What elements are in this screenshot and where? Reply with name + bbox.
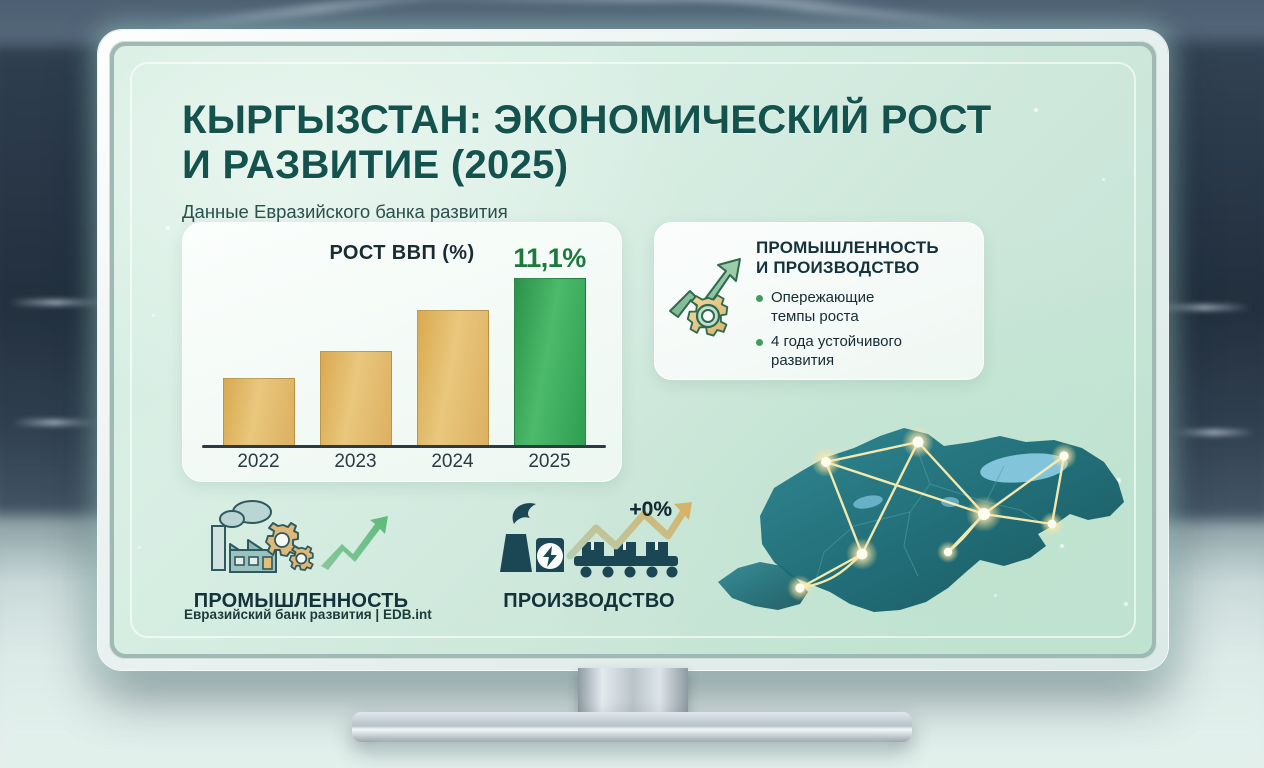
bar-slot [223,278,295,445]
industry-production-card: ПРОМЫШЛЕННОСТЬ И ПРОИЗВОДСТВО Опережающи… [654,222,984,380]
chart-x-tick-labels: 2022 2023 2024 2025 [210,451,598,473]
server-rack [0,45,110,515]
tv-stand-base [352,712,912,742]
list-item: Опережающие темпы роста [756,288,968,326]
chart-plot-area: 11,1% [210,278,598,445]
bar-slot [417,278,489,445]
factory-gears-icon [190,494,412,586]
gdp-growth-chart-card: РОСТ ВВП (%) [182,222,622,482]
list-item-label: Опережающие темпы роста [771,288,874,326]
slide-header: КЫРГЫЗСТАН: ЭКОНОМИЧЕСКИЙ РОСТ И РАЗВИТИ… [182,98,992,223]
rack-led [8,300,104,305]
bullet-dot-icon [756,295,763,302]
table-row [417,310,489,445]
stat-visual [190,494,412,586]
card-title: ПРОМЫШЛЕННОСТЬ И ПРОИЗВОДСТВО [756,238,968,279]
sparkle [138,546,141,549]
slide-screen: КЫРГЫЗСТАН: ЭКОНОМИЧЕСКИЙ РОСТ И РАЗВИТИ… [114,46,1152,654]
list-item-label: 4 года устойчивого развития [771,332,902,370]
rack-led [1158,305,1250,310]
industry-production-body: ПРОМЫШЛЕННОСТЬ И ПРОИЗВОДСТВО Опережающи… [756,236,968,366]
x-tick: 2022 [223,451,295,473]
stat-industry: +0% ПРОМЫШЛЕННОСТЬ [190,494,412,613]
tv-bezel-inner: КЫРГЫЗСТАН: ЭКОНОМИЧЕСКИЙ РОСТ И РАЗВИТИ… [109,41,1157,659]
stat-percent: +0% [629,498,672,522]
scene: КЫРГЫЗСТАН: ЭКОНОМИЧЕСКИЙ РОСТ И РАЗВИТИ… [0,0,1264,768]
sparkle [152,314,155,317]
tv-stand-reflection [372,742,892,764]
stat-label: ПРОИЗВОДСТВО [478,590,700,613]
sparkle [1034,108,1038,112]
sparkle [1102,178,1105,181]
rack-led [12,420,96,425]
page-subtitle: Данные Евразийского банка развития [182,201,992,223]
x-tick: 2023 [320,451,392,473]
x-tick: 2024 [417,451,489,473]
bar-value-label-highlight: 11,1% [513,243,586,274]
ceiling-light [151,0,490,34]
kyrgyzstan-network-map [704,406,1144,636]
table-row [223,378,295,445]
tv-display: КЫРГЫЗСТАН: ЭКОНОМИЧЕСКИЙ РОСТ И РАЗВИТИ… [98,30,1168,670]
growth-arrow-gear-icon [664,236,748,366]
table-row [320,351,392,445]
footer-credit: Евразийский банк развития | EDB.int [184,607,432,622]
table-row [514,278,586,445]
ceiling-light [621,0,1000,31]
chart-bars: 11,1% [210,278,598,445]
server-rack [1154,40,1264,520]
chart-x-axis [202,445,606,448]
card-bullet-list: Опережающие темпы роста 4 года устойчиво… [756,288,968,371]
rack-led [1174,430,1254,435]
sparkle [166,226,170,230]
bullet-dot-icon [756,339,763,346]
bar-slot-highlight: 11,1% [514,278,586,445]
bar-slot [320,278,392,445]
list-item: 4 года устойчивого развития [756,332,968,370]
x-tick: 2025 [514,451,586,473]
page-title: КЫРГЫЗСТАН: ЭКОНОМИЧЕСКИЙ РОСТ И РАЗВИТИ… [182,98,992,188]
stat-production: +0% ПРОИЗВОДСТВО [478,494,700,613]
ceiling-light [380,0,900,2]
stat-blocks: +0% ПРОМЫШЛЕННОСТЬ [190,494,700,613]
